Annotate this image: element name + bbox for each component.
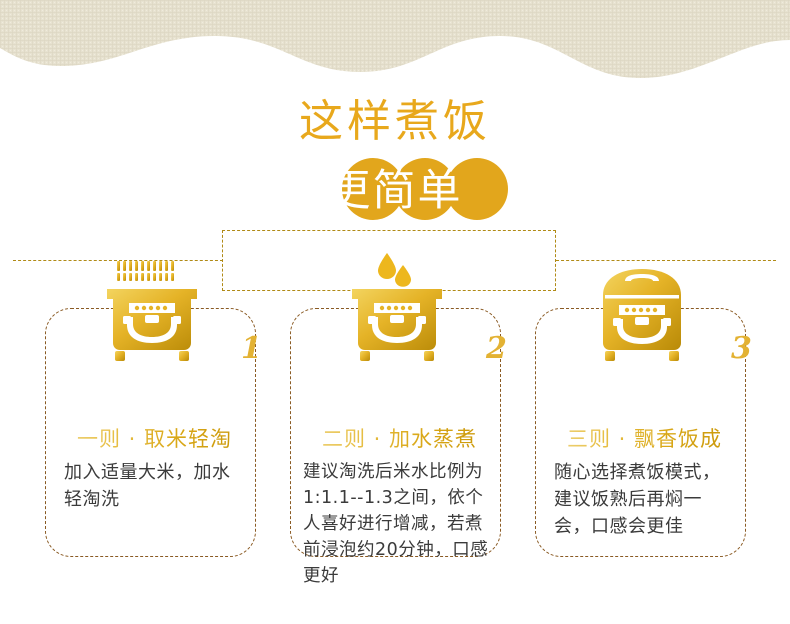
page-subtitle: 更简单 [0, 158, 790, 222]
step-title-1: 一则 · 取米轻淘 [52, 423, 257, 453]
step-card-2: 2 二则 · 加水蒸煮 建议淘洗后米水比例为1:1.1--1.3之间，依个人喜好… [290, 308, 501, 557]
step-number-2: 2 [486, 331, 507, 366]
step-number-3: 3 [731, 331, 752, 366]
rice-cooker-with-water-drops-icon [291, 251, 502, 363]
step-title-3: 三则 · 飘香饭成 [542, 423, 747, 453]
step-title-2: 二则 · 加水蒸煮 [297, 423, 502, 453]
step-card-1: 1 一则 · 取米轻淘 加入适量大米，加水轻淘洗 [45, 308, 256, 557]
rice-cooker-with-rice-icon [46, 251, 257, 363]
page-subtitle-group: 更简单 [0, 158, 790, 222]
step-card-3: 3 三则 · 飘香饭成 随心选择煮饭模式，建议饭熟后再焖一会，口感会更佳 [535, 308, 746, 557]
steps-card-row: 1 一则 · 取米轻淘 加入适量大米，加水轻淘洗 [0, 250, 790, 570]
step-number-1: 1 [241, 331, 262, 366]
top-decorative-band [0, 0, 790, 90]
rice-cooker-with-handle-icon [536, 251, 747, 363]
step-body-2: 建议淘洗后米水比例为1:1.1--1.3之间，依个人喜好进行增减，若煮前浸泡约2… [303, 459, 493, 589]
step-body-1: 加入适量大米，加水轻淘洗 [64, 459, 242, 513]
page-title: 这样煮饭 [0, 96, 790, 148]
step-body-3: 随心选择煮饭模式，建议饭熟后再焖一会，口感会更佳 [554, 459, 734, 540]
